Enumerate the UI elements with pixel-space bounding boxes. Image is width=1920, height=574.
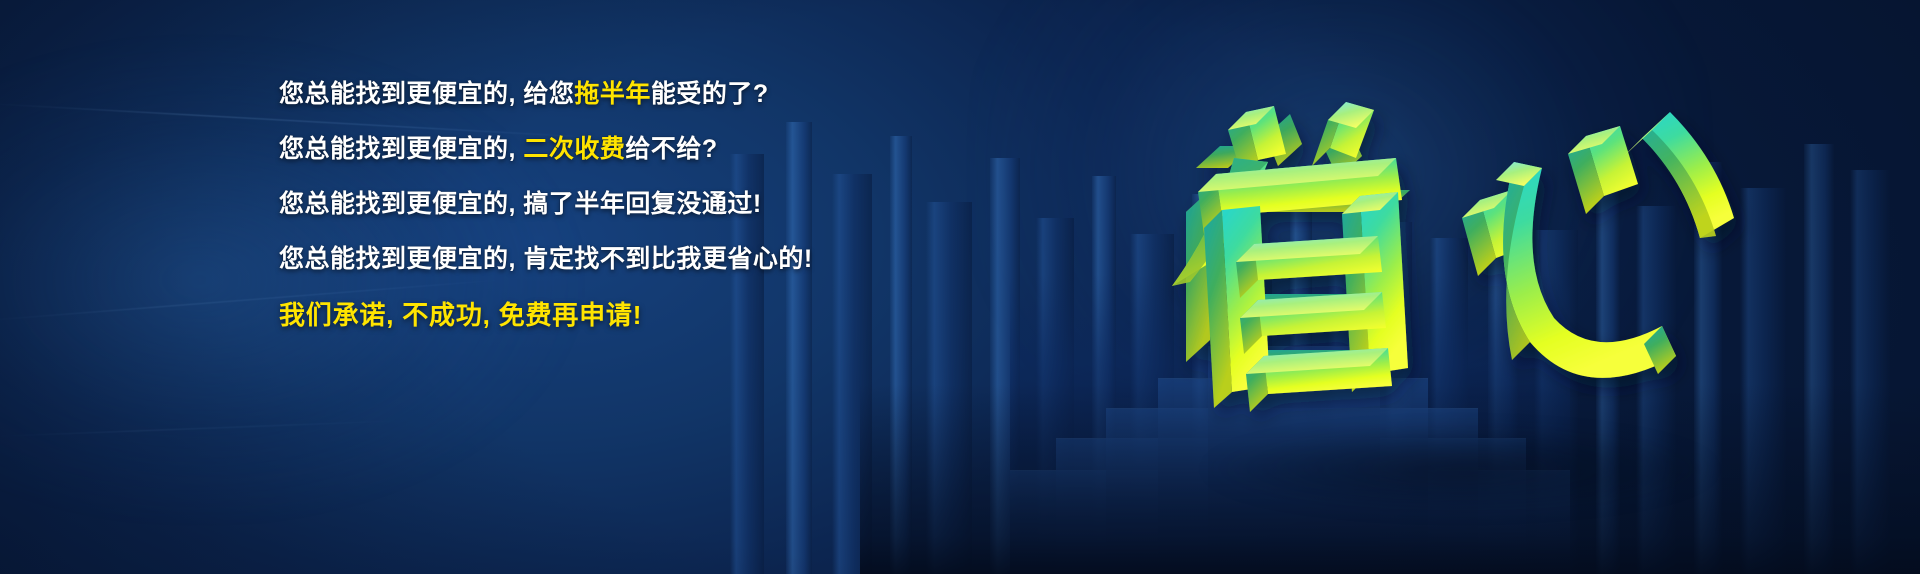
artwork-char-xin xyxy=(1462,112,1734,378)
copy-line-1-part-a: 您总能找到更便宜的, 给您 xyxy=(279,80,574,108)
copy-line-3-part-a: 您总能找到更便宜的, 搞了半年回复没通过! xyxy=(279,190,762,218)
marketing-copy-block: 您总能找到更便宜的, 给您拖半年能受的了? 您总能找到更便宜的, 二次收费给不给… xyxy=(279,82,919,328)
copy-line-2: 您总能找到更便宜的, 二次收费给不给? xyxy=(279,137,919,162)
copy-line-4-part-a: 您总能找到更便宜的, 肯定找不到比我更省心的! xyxy=(279,245,813,273)
copy-line-1-highlight: 拖半年 xyxy=(574,80,651,108)
copy-line-2-highlight: 二次收费 xyxy=(523,135,625,163)
copy-line-1-part-c: 能受的了? xyxy=(651,80,769,108)
copy-line-1: 您总能找到更便宜的, 给您拖半年能受的了? xyxy=(279,82,919,107)
copy-line-3: 您总能找到更便宜的, 搞了半年回复没通过! xyxy=(279,192,919,217)
artwork-char-sheng xyxy=(1172,102,1410,412)
artwork-shengxin xyxy=(1150,50,1770,440)
copy-line-4: 您总能找到更便宜的, 肯定找不到比我更省心的! xyxy=(279,247,919,272)
promo-banner: 您总能找到更便宜的, 给您拖半年能受的了? 您总能找到更便宜的, 二次收费给不给… xyxy=(0,0,1920,574)
copy-line-2-part-c: 给不给? xyxy=(625,135,717,163)
copy-line-2-part-a: 您总能找到更便宜的, xyxy=(279,135,523,163)
copy-promise-line: 我们承诺, 不成功, 免费再申请! xyxy=(279,302,919,328)
